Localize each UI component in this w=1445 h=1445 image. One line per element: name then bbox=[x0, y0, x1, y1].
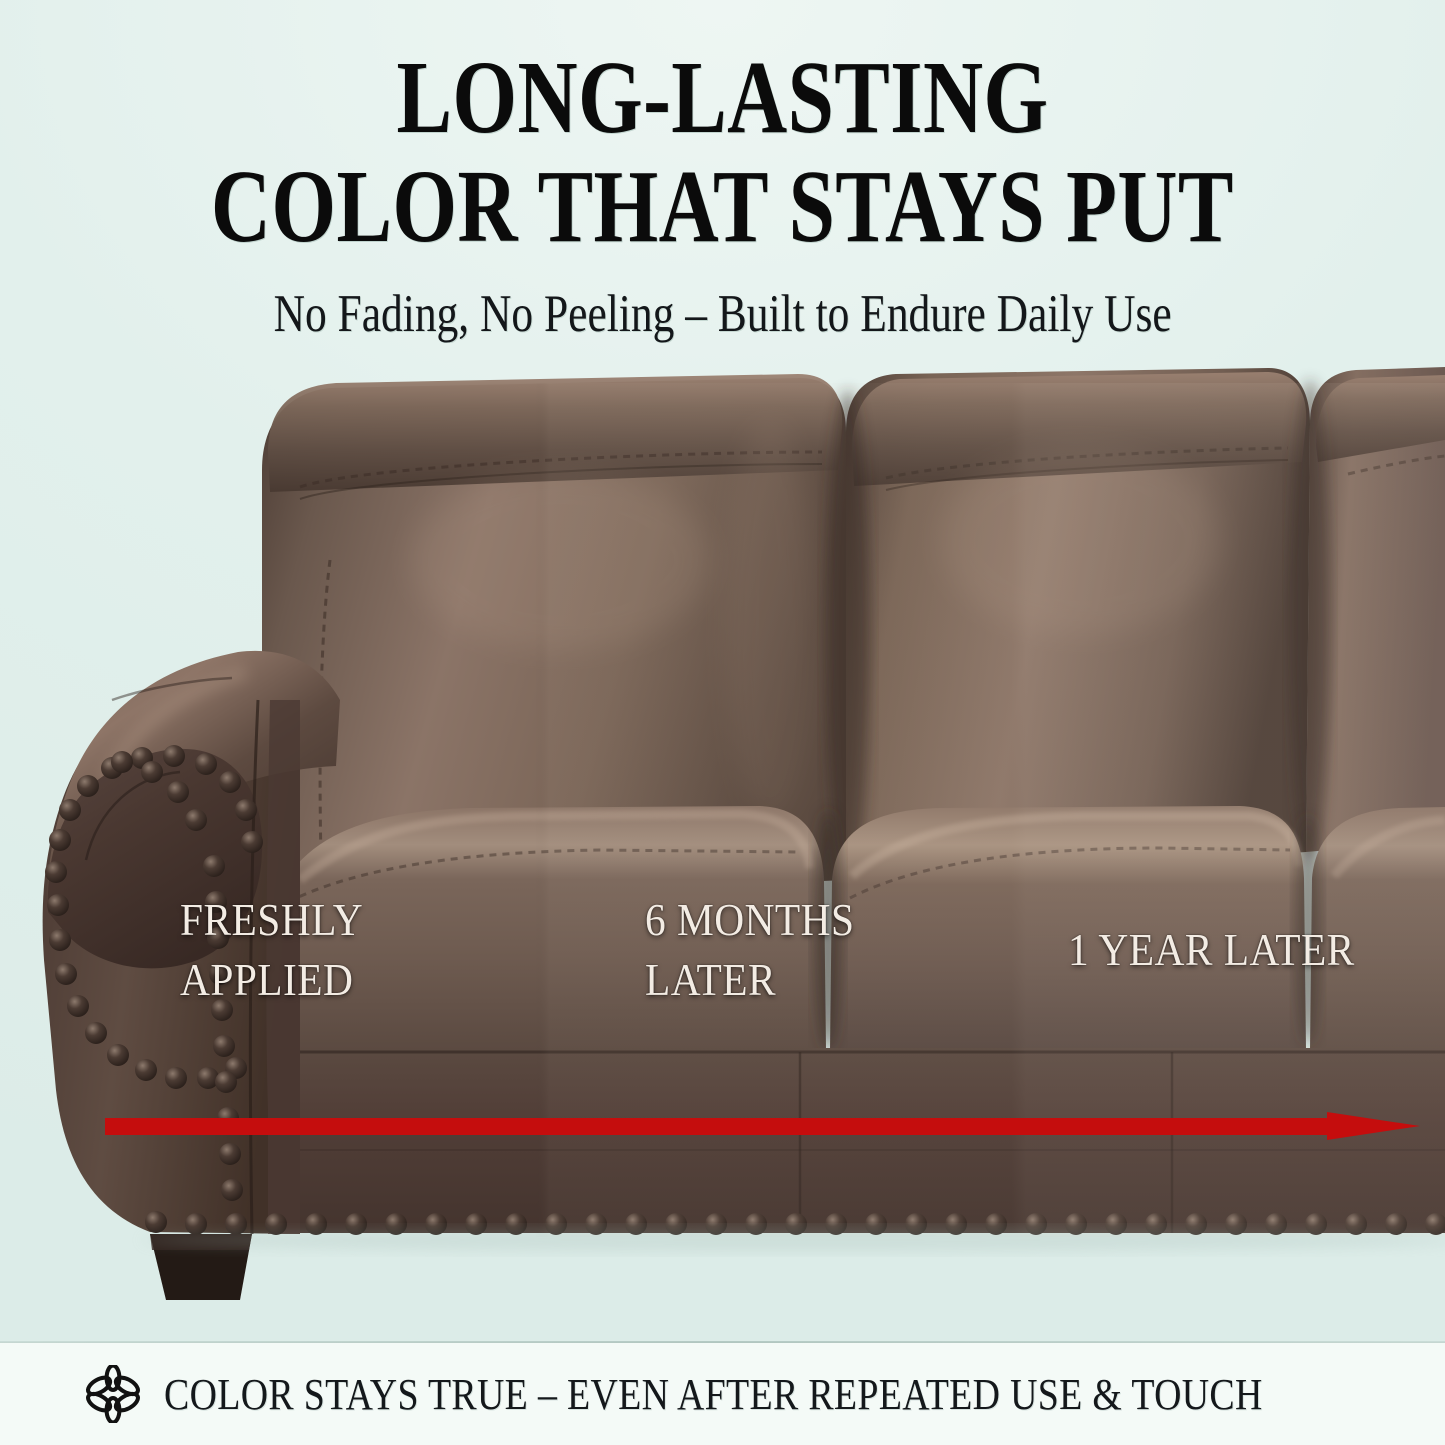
banner-divider bbox=[0, 1341, 1445, 1343]
arrow-svg bbox=[105, 1112, 1420, 1140]
timeline-label-freshly-applied: FRESHLY APPLIED bbox=[180, 890, 363, 1010]
timeline-label-six-months-later: 6 MONTHS LATER bbox=[645, 890, 854, 1010]
floor-shadow bbox=[140, 1228, 1445, 1252]
timeline-label-one-year-later: 1 YEAR LATER bbox=[1068, 920, 1355, 980]
banner-text: COLOR STAYS TRUE – EVEN AFTER REPEATED U… bbox=[164, 1369, 1263, 1420]
timeline-arrow bbox=[105, 1112, 1420, 1140]
arrow-shaft bbox=[105, 1118, 1335, 1135]
arrow-head bbox=[1327, 1112, 1420, 1140]
infographic-canvas: LONG-LASTING COLOR THAT STAYS PUT No Fad… bbox=[0, 0, 1445, 1445]
flower-asterisk-icon bbox=[84, 1365, 142, 1423]
aging-tint-overlay bbox=[0, 360, 1445, 1240]
bottom-banner: COLOR STAYS TRUE – EVEN AFTER REPEATED U… bbox=[0, 1342, 1445, 1445]
